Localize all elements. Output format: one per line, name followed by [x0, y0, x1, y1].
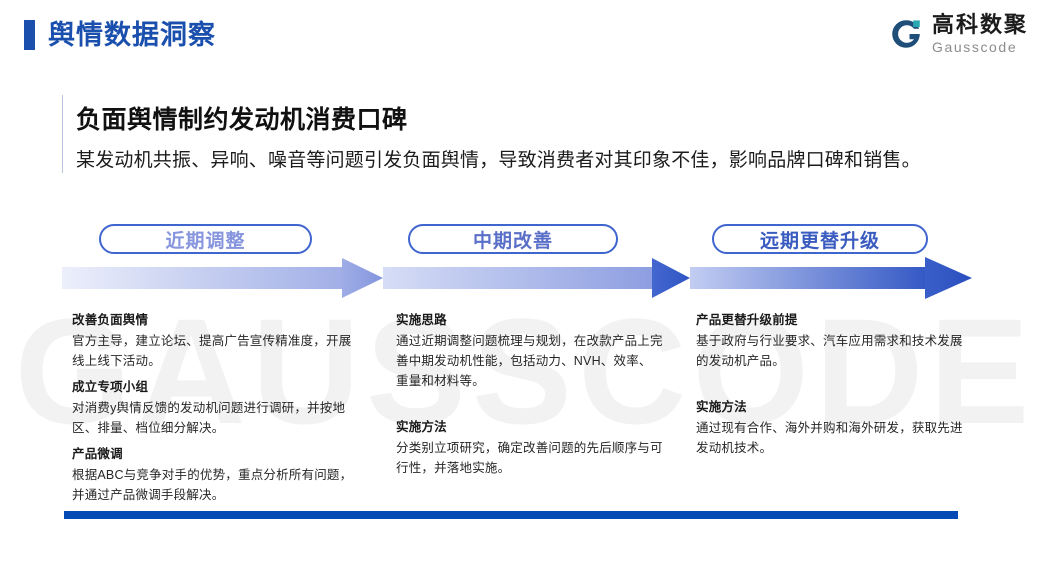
slide-canvas: GAUSSCODE 舆情数据洞察 高科数聚 Gausscode 负面舆情制约发动…: [0, 0, 1050, 588]
gausscode-logo-icon: [889, 17, 923, 51]
section-body: 根据ABC与竞争对手的优势，重点分析所有问题，并通过产品微调手段解决。: [72, 465, 362, 505]
section-title: 产品微调: [72, 444, 362, 464]
column-near-term: 改善负面舆情 官方主导，建立论坛、提高广告宣传精准度，开展线上线下活动。 成立专…: [72, 310, 362, 511]
section-title: 产品更替升级前提: [696, 310, 964, 330]
timeline-arrow-band: [0, 255, 1050, 305]
section-body: 通过近期调整问题梳理与规划，在改款产品上完善中期发动机性能，包括动力、NVH、效…: [396, 331, 664, 391]
phase-pill-label: 中期改善: [473, 226, 553, 253]
subheadline-text: 某发动机共振、异响、噪音等问题引发负面舆情，导致消费者对其印象不佳，影响品牌口碑…: [76, 145, 921, 172]
header-bullet-icon: [24, 20, 35, 50]
footer-accent-bar: [64, 511, 958, 519]
headline-text: 负面舆情制约发动机消费口碑: [76, 100, 408, 136]
section-spacer: [696, 377, 964, 397]
phase-pill-label: 近期调整: [165, 226, 245, 253]
logo-name-en: Gausscode: [932, 40, 1028, 54]
section-title: 实施方法: [396, 417, 664, 437]
section-body: 分类别立项研究，确定改善问题的先后顺序与可行性，并落地实施。: [396, 438, 664, 478]
column-long-term: 产品更替升级前提 基于政府与行业要求、汽车应用需求和技术发展的发动机产品。 实施…: [696, 310, 964, 464]
logo-wordmark: 高科数聚 Gausscode: [932, 14, 1028, 54]
section-title: 实施思路: [396, 310, 664, 330]
section-title: 改善负面舆情: [72, 310, 362, 330]
headline-accent-rule: [62, 95, 63, 173]
phase-pill-label: 远期更替升级: [760, 226, 880, 253]
section-body: 官方主导，建立论坛、提高广告宣传精准度，开展线上线下活动。: [72, 331, 362, 371]
brand-logo: 高科数聚 Gausscode: [889, 14, 1028, 54]
page-title: 舆情数据洞察: [48, 15, 216, 55]
section-spacer: [396, 397, 664, 417]
slide-header: 舆情数据洞察 高科数聚 Gausscode: [0, 0, 1050, 70]
phase-pill-near-term[interactable]: 近期调整: [99, 224, 312, 254]
phase-pill-mid-term[interactable]: 中期改善: [408, 224, 618, 254]
phase-pill-long-term[interactable]: 远期更替升级: [712, 224, 928, 254]
section-title: 实施方法: [696, 397, 964, 417]
section-body: 对消费y舆情反馈的发动机问题进行调研，并按地区、排量、档位细分解决。: [72, 398, 362, 438]
logo-name-cn: 高科数聚: [932, 14, 1028, 36]
column-mid-term: 实施思路 通过近期调整问题梳理与规划，在改款产品上完善中期发动机性能，包括动力、…: [396, 310, 664, 484]
section-title: 成立专项小组: [72, 377, 362, 397]
section-body: 基于政府与行业要求、汽车应用需求和技术发展的发动机产品。: [696, 331, 964, 371]
section-body: 通过现有合作、海外并购和海外研发，获取先进发动机技术。: [696, 418, 964, 458]
